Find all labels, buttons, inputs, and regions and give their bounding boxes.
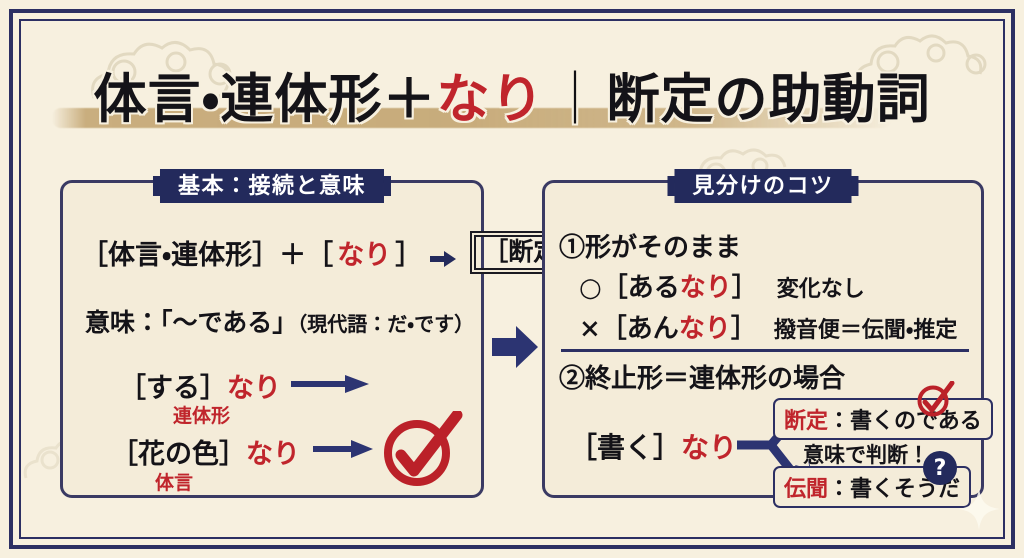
example-2-arrow-icon xyxy=(313,438,373,464)
ok-form: ［ある xyxy=(602,273,680,303)
section-1-ng-row: ×［あんなり］ 撥音便＝伝聞・推定 xyxy=(579,308,957,345)
panel-basics: 基本：接続と意味 ［体言・連体形］＋［なり］ ［断定］ 意味：「～である」（現代… xyxy=(60,180,484,498)
dantei-label: 断定 xyxy=(784,408,828,434)
example-2-suffix: なり xyxy=(246,439,300,470)
question-badge: ? xyxy=(923,451,957,485)
subject-bracket: ［書く］ xyxy=(569,431,681,464)
panel-tips: 見分けのコツ ①形がそのまま ○［あるなり］ 変化なし ×［あんなり］ 撥音便＝… xyxy=(542,180,984,498)
example-2-bracket: ［花の色］ xyxy=(111,439,246,470)
ng-form: ［あん xyxy=(601,314,679,344)
branch-middle-note: 意味で判断！ xyxy=(803,439,929,469)
section-2-heading: ②終止形＝連体形の場合 xyxy=(559,358,845,395)
section-divider xyxy=(561,349,969,352)
example-1-bracket: ［する］ xyxy=(119,373,227,404)
formula-word: なり xyxy=(337,233,391,272)
subject-word: なり xyxy=(681,431,737,464)
circle-check-icon xyxy=(379,411,463,495)
right-arrow-icon xyxy=(430,244,456,262)
panel-basics-banner: 基本：接続と意味 xyxy=(160,169,384,203)
page-title: 体言・連体形＋なり｜断定の助動詞 xyxy=(93,57,930,133)
ok-close: ］ xyxy=(732,273,758,303)
title-lead: 体言・連体形＋ xyxy=(93,68,436,130)
title-separator: ｜ xyxy=(545,69,607,130)
example-1: ［する］なり xyxy=(119,366,281,405)
circle-check-icon xyxy=(915,381,955,423)
ng-word: なり xyxy=(679,314,731,344)
example-1-arrow-icon xyxy=(291,373,369,399)
section-1-heading: ①形がそのまま xyxy=(559,227,741,264)
section-1-ok-row: ○［あるなり］ 変化なし xyxy=(579,267,865,304)
ok-note: 変化なし xyxy=(777,276,865,302)
denbun-label: 伝聞 xyxy=(784,476,828,502)
ok-word: なり xyxy=(680,273,732,303)
panel-tips-banner: 見分けのコツ xyxy=(674,169,851,203)
example-2-tag: 体言 xyxy=(155,468,193,495)
formula-row: ［体言・連体形］＋［なり］ ［断定］ xyxy=(81,233,592,272)
example-1-tag: 連体形 xyxy=(173,401,230,428)
section-2-subject: ［書く］なり xyxy=(569,426,737,466)
meaning-row: 意味：「～である」（現代語：だ・です） xyxy=(85,303,474,339)
ng-mark: × xyxy=(579,314,601,344)
formula-term: ［体言・連体形］＋［ xyxy=(81,233,333,272)
meaning-label: 意味： xyxy=(85,308,160,337)
slide-root: 体言・連体形＋なり｜断定の助動詞 基本：接続と意味 ［体言・連体形］＋［なり］ … xyxy=(0,0,1024,558)
branch-box-dantei: 断定：書くのである xyxy=(773,398,993,440)
meaning-quote: 「～である」 xyxy=(160,308,297,337)
example-1-suffix: なり xyxy=(227,373,281,404)
example-2: ［花の色］なり xyxy=(111,432,300,471)
denbun-colon: ： xyxy=(828,476,850,502)
ng-close: ］ xyxy=(731,314,757,344)
title-area: 体言・連体形＋なり｜断定の助動詞 xyxy=(0,52,1024,138)
dantei-colon: ： xyxy=(828,408,850,434)
formula-close: ］ xyxy=(395,233,422,272)
title-tail: 断定の助動詞 xyxy=(607,68,931,130)
ok-mark: ○ xyxy=(579,273,602,303)
panel-transition-arrow-icon xyxy=(492,326,538,372)
meaning-modern: （現代語：だ・です） xyxy=(297,312,474,336)
ng-note: 撥音便＝伝聞・推定 xyxy=(774,317,957,343)
title-highlight: なり xyxy=(437,68,545,130)
